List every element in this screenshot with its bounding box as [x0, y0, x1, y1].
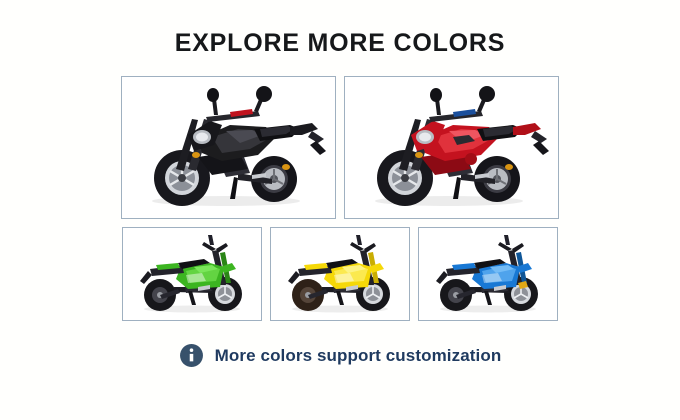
color-card-yellow[interactable] — [270, 227, 410, 321]
explore-colors-page: EXPLORE MORE COLORS — [0, 0, 680, 420]
motorcycle-green-icon — [126, 231, 258, 317]
color-card-green[interactable] — [122, 227, 262, 321]
color-card-red[interactable] — [344, 76, 559, 219]
info-circle-icon — [179, 343, 204, 368]
page-title: EXPLORE MORE COLORS — [0, 0, 680, 58]
customization-note-text: More colors support customization — [215, 346, 502, 366]
gallery-row-small — [0, 227, 680, 321]
color-card-black[interactable] — [121, 76, 336, 219]
color-card-blue[interactable] — [418, 227, 558, 321]
motorcycle-black-icon — [126, 81, 331, 214]
gallery-row-large — [0, 76, 680, 219]
customization-note: More colors support customization — [0, 343, 680, 368]
motorcycle-red-icon — [349, 81, 554, 214]
motorcycle-yellow-icon — [274, 231, 406, 317]
motorcycle-blue-icon — [422, 231, 554, 317]
color-gallery — [0, 76, 680, 321]
